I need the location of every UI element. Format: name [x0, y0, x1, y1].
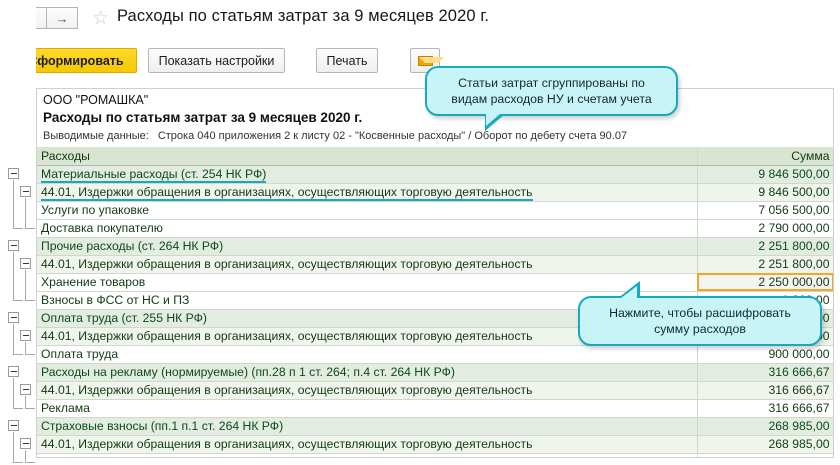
- row-name-text: Доставка покупателю: [41, 221, 163, 235]
- row-name-text: Хранение товаров: [41, 275, 145, 289]
- tree-connector: [13, 432, 14, 462]
- collapse-account-icon[interactable]: [20, 330, 31, 341]
- tree-connector: [13, 180, 14, 228]
- row-name-text: 44.01, Издержки обращения в организациях…: [41, 329, 533, 343]
- tree-connector: [25, 396, 26, 408]
- tree-connector: [25, 462, 35, 463]
- report-toolbar: Сформировать Показать настройки Печать: [0, 48, 840, 80]
- collapse-account-icon[interactable]: [20, 384, 31, 395]
- row-sum-cell[interactable]: 316 666,67: [697, 381, 834, 399]
- row-name-cell[interactable]: Оплата труда: [37, 345, 697, 363]
- row-name-cell[interactable]: 44.01, Издержки обращения в организациях…: [37, 255, 697, 273]
- print-button[interactable]: Печать: [316, 48, 378, 73]
- row-name-text: 44.01, Издержки обращения в организациях…: [41, 437, 533, 451]
- row-name-text: Оплата труда: [41, 347, 118, 361]
- table-row[interactable]: Услуги по упаковке7 056 500,00: [37, 201, 834, 219]
- row-name-text: Услуги по упаковке: [41, 203, 149, 217]
- report-subtitle-label: Выводимые данные:: [43, 130, 149, 142]
- row-name-cell[interactable]: Страховые взносы: [37, 453, 697, 458]
- row-name-text: Прочие расходы (ст. 264 НК РФ): [41, 239, 223, 253]
- row-name-cell[interactable]: 44.01, Издержки обращения в организациях…: [37, 435, 697, 453]
- collapse-account-icon[interactable]: [20, 438, 31, 449]
- table-row[interactable]: Реклама316 666,67: [37, 399, 834, 417]
- report-company: ООО "РОМАШКА": [43, 93, 148, 107]
- table-header-row: Расходы Сумма: [37, 147, 834, 165]
- report-window: ← → ☆ Расходы по статьям затрат за 9 мес…: [0, 0, 840, 465]
- collapse-account-icon[interactable]: [20, 258, 31, 269]
- row-sum-cell[interactable]: 316 666,67: [697, 399, 834, 417]
- table-row[interactable]: Страховые взносы268 985,00: [37, 453, 834, 458]
- row-sum-cell[interactable]: 268 985,00: [697, 435, 834, 453]
- row-name-cell[interactable]: Страховые взносы (пп.1 п.1 ст. 264 НК РФ…: [37, 417, 697, 435]
- row-sum-cell[interactable]: 7 056 500,00: [697, 201, 834, 219]
- show-settings-button[interactable]: Показать настройки: [148, 48, 285, 73]
- table-row[interactable]: 44.01, Издержки обращения в организациях…: [37, 435, 834, 453]
- tree-connector: [13, 252, 14, 300]
- row-name-text: 44.01, Издержки обращения в организациях…: [41, 185, 533, 201]
- row-name-cell[interactable]: Материальные расходы (ст. 254 НК РФ): [37, 165, 697, 183]
- favorite-star-icon[interactable]: ☆: [92, 9, 109, 28]
- row-name-cell[interactable]: Прочие расходы (ст. 264 НК РФ): [37, 237, 697, 255]
- row-name-text: 44.01, Издержки обращения в организациях…: [41, 383, 533, 397]
- table-row[interactable]: Прочие расходы (ст. 264 НК РФ)2 251 800,…: [37, 237, 834, 255]
- row-name-text: Страховые взносы: [41, 455, 147, 458]
- tree-connector: [25, 198, 26, 228]
- row-name-cell[interactable]: Реклама: [37, 399, 697, 417]
- callout-amount-note: Нажмите, чтобы расшифровать сумму расход…: [578, 296, 822, 346]
- table-row[interactable]: Расходы на рекламу (нормируемые) (пп.28 …: [37, 363, 834, 381]
- table-row[interactable]: Хранение товаров2 250 000,00: [37, 273, 834, 291]
- report-title: Расходы по статьям затрат за 9 месяцев 2…: [43, 110, 362, 125]
- report-panel: ООО "РОМАШКА" Расходы по статьям затрат …: [36, 88, 834, 458]
- row-sum-cell-selected[interactable]: 2 250 000,00: [697, 273, 834, 291]
- tree-connector: [25, 450, 26, 462]
- callout-grouping-text: Статьи затрат сгруппированы по видам рас…: [451, 76, 651, 106]
- collapse-group-icon[interactable]: [8, 366, 19, 377]
- row-name-cell[interactable]: Расходы на рекламу (нормируемые) (пп.28 …: [37, 363, 697, 381]
- row-name-text: Взносы в ФСС от НС и ПЗ: [41, 293, 189, 307]
- row-name-cell[interactable]: Доставка покупателю: [37, 219, 697, 237]
- callout-tail-inner: [621, 286, 637, 298]
- tree-connector: [25, 342, 26, 354]
- callout-amount-text: Нажмите, чтобы расшифровать сумму расход…: [609, 306, 791, 336]
- row-sum-cell[interactable]: 316 666,67: [697, 363, 834, 381]
- page-title: Расходы по статьям затрат за 9 месяцев 2…: [117, 7, 489, 26]
- tree-connector: [25, 228, 35, 229]
- collapse-group-icon[interactable]: [8, 240, 19, 251]
- row-sum-cell[interactable]: 268 985,00: [697, 417, 834, 435]
- collapse-account-icon[interactable]: [20, 186, 31, 197]
- table-row[interactable]: 44.01, Издержки обращения в организациях…: [37, 381, 834, 399]
- row-sum-cell[interactable]: 2 251 800,00: [697, 237, 834, 255]
- tree-connector: [13, 354, 23, 355]
- row-name-text: Оплата труда (ст. 255 НК РФ): [41, 311, 207, 325]
- tree-connector: [25, 300, 35, 301]
- table-row[interactable]: 44.01, Издержки обращения в организациях…: [37, 183, 834, 201]
- row-sum-cell[interactable]: 268 985,00: [697, 453, 834, 458]
- callout-tail-inner: [486, 114, 500, 126]
- tree-connector: [25, 270, 26, 300]
- row-sum-cell[interactable]: 2 251 800,00: [697, 255, 834, 273]
- row-name-text: Расходы на рекламу (нормируемые) (пп.28 …: [41, 365, 455, 379]
- tree-connector: [13, 324, 14, 354]
- collapse-group-icon[interactable]: [8, 312, 19, 323]
- row-sum-cell[interactable]: 9 846 500,00: [697, 183, 834, 201]
- table-row[interactable]: Доставка покупателю2 790 000,00: [37, 219, 834, 237]
- tree-connector: [13, 378, 14, 408]
- row-name-text: Реклама: [41, 401, 90, 415]
- report-subtitle-value: Строка 040 приложения 2 к листу 02 - "Ко…: [158, 130, 627, 142]
- collapse-group-icon[interactable]: [8, 168, 19, 179]
- row-name-text: Материальные расходы (ст. 254 НК РФ): [41, 167, 266, 183]
- report-subtitle: Выводимые данные:Строка 040 приложения 2…: [43, 130, 627, 142]
- row-sum-cell[interactable]: 2 790 000,00: [697, 219, 834, 237]
- envelope-icon: [418, 56, 433, 66]
- row-name-cell[interactable]: 44.01, Издержки обращения в организациях…: [37, 381, 697, 399]
- table-row[interactable]: Материальные расходы (ст. 254 НК РФ)9 84…: [37, 165, 834, 183]
- row-name-text: 44.01, Издержки обращения в организациях…: [41, 257, 533, 271]
- tree-connector: [13, 462, 23, 463]
- forward-icon[interactable]: →: [46, 7, 78, 29]
- navigation-bar: ← → ☆ Расходы по статьям затрат за 9 мес…: [0, 0, 840, 40]
- tree-connector: [13, 408, 23, 409]
- tree-connector: [13, 228, 23, 229]
- tree-connector: [13, 300, 23, 301]
- tree-gutter: [0, 0, 36, 465]
- row-sum-cell[interactable]: 9 846 500,00: [697, 165, 834, 183]
- column-header-name: Расходы: [37, 147, 697, 165]
- tree-connector: [25, 354, 35, 355]
- collapse-group-icon[interactable]: [8, 420, 19, 431]
- callout-grouping-note: Статьи затрат сгруппированы по видам рас…: [425, 66, 678, 116]
- row-name-cell[interactable]: Хранение товаров: [37, 273, 697, 291]
- tree-connector: [25, 408, 35, 409]
- row-name-cell[interactable]: Услуги по упаковке: [37, 201, 697, 219]
- row-name-text: Страховые взносы (пп.1 п.1 ст. 264 НК РФ…: [41, 419, 283, 433]
- row-sum-cell[interactable]: 900 000,00: [697, 345, 834, 363]
- table-row[interactable]: Оплата труда900 000,00: [37, 345, 834, 363]
- table-row[interactable]: 44.01, Издержки обращения в организациях…: [37, 255, 834, 273]
- row-name-cell[interactable]: 44.01, Издержки обращения в организациях…: [37, 183, 697, 201]
- table-row[interactable]: Страховые взносы (пп.1 п.1 ст. 264 НК РФ…: [37, 417, 834, 435]
- column-header-sum: Сумма: [697, 147, 834, 165]
